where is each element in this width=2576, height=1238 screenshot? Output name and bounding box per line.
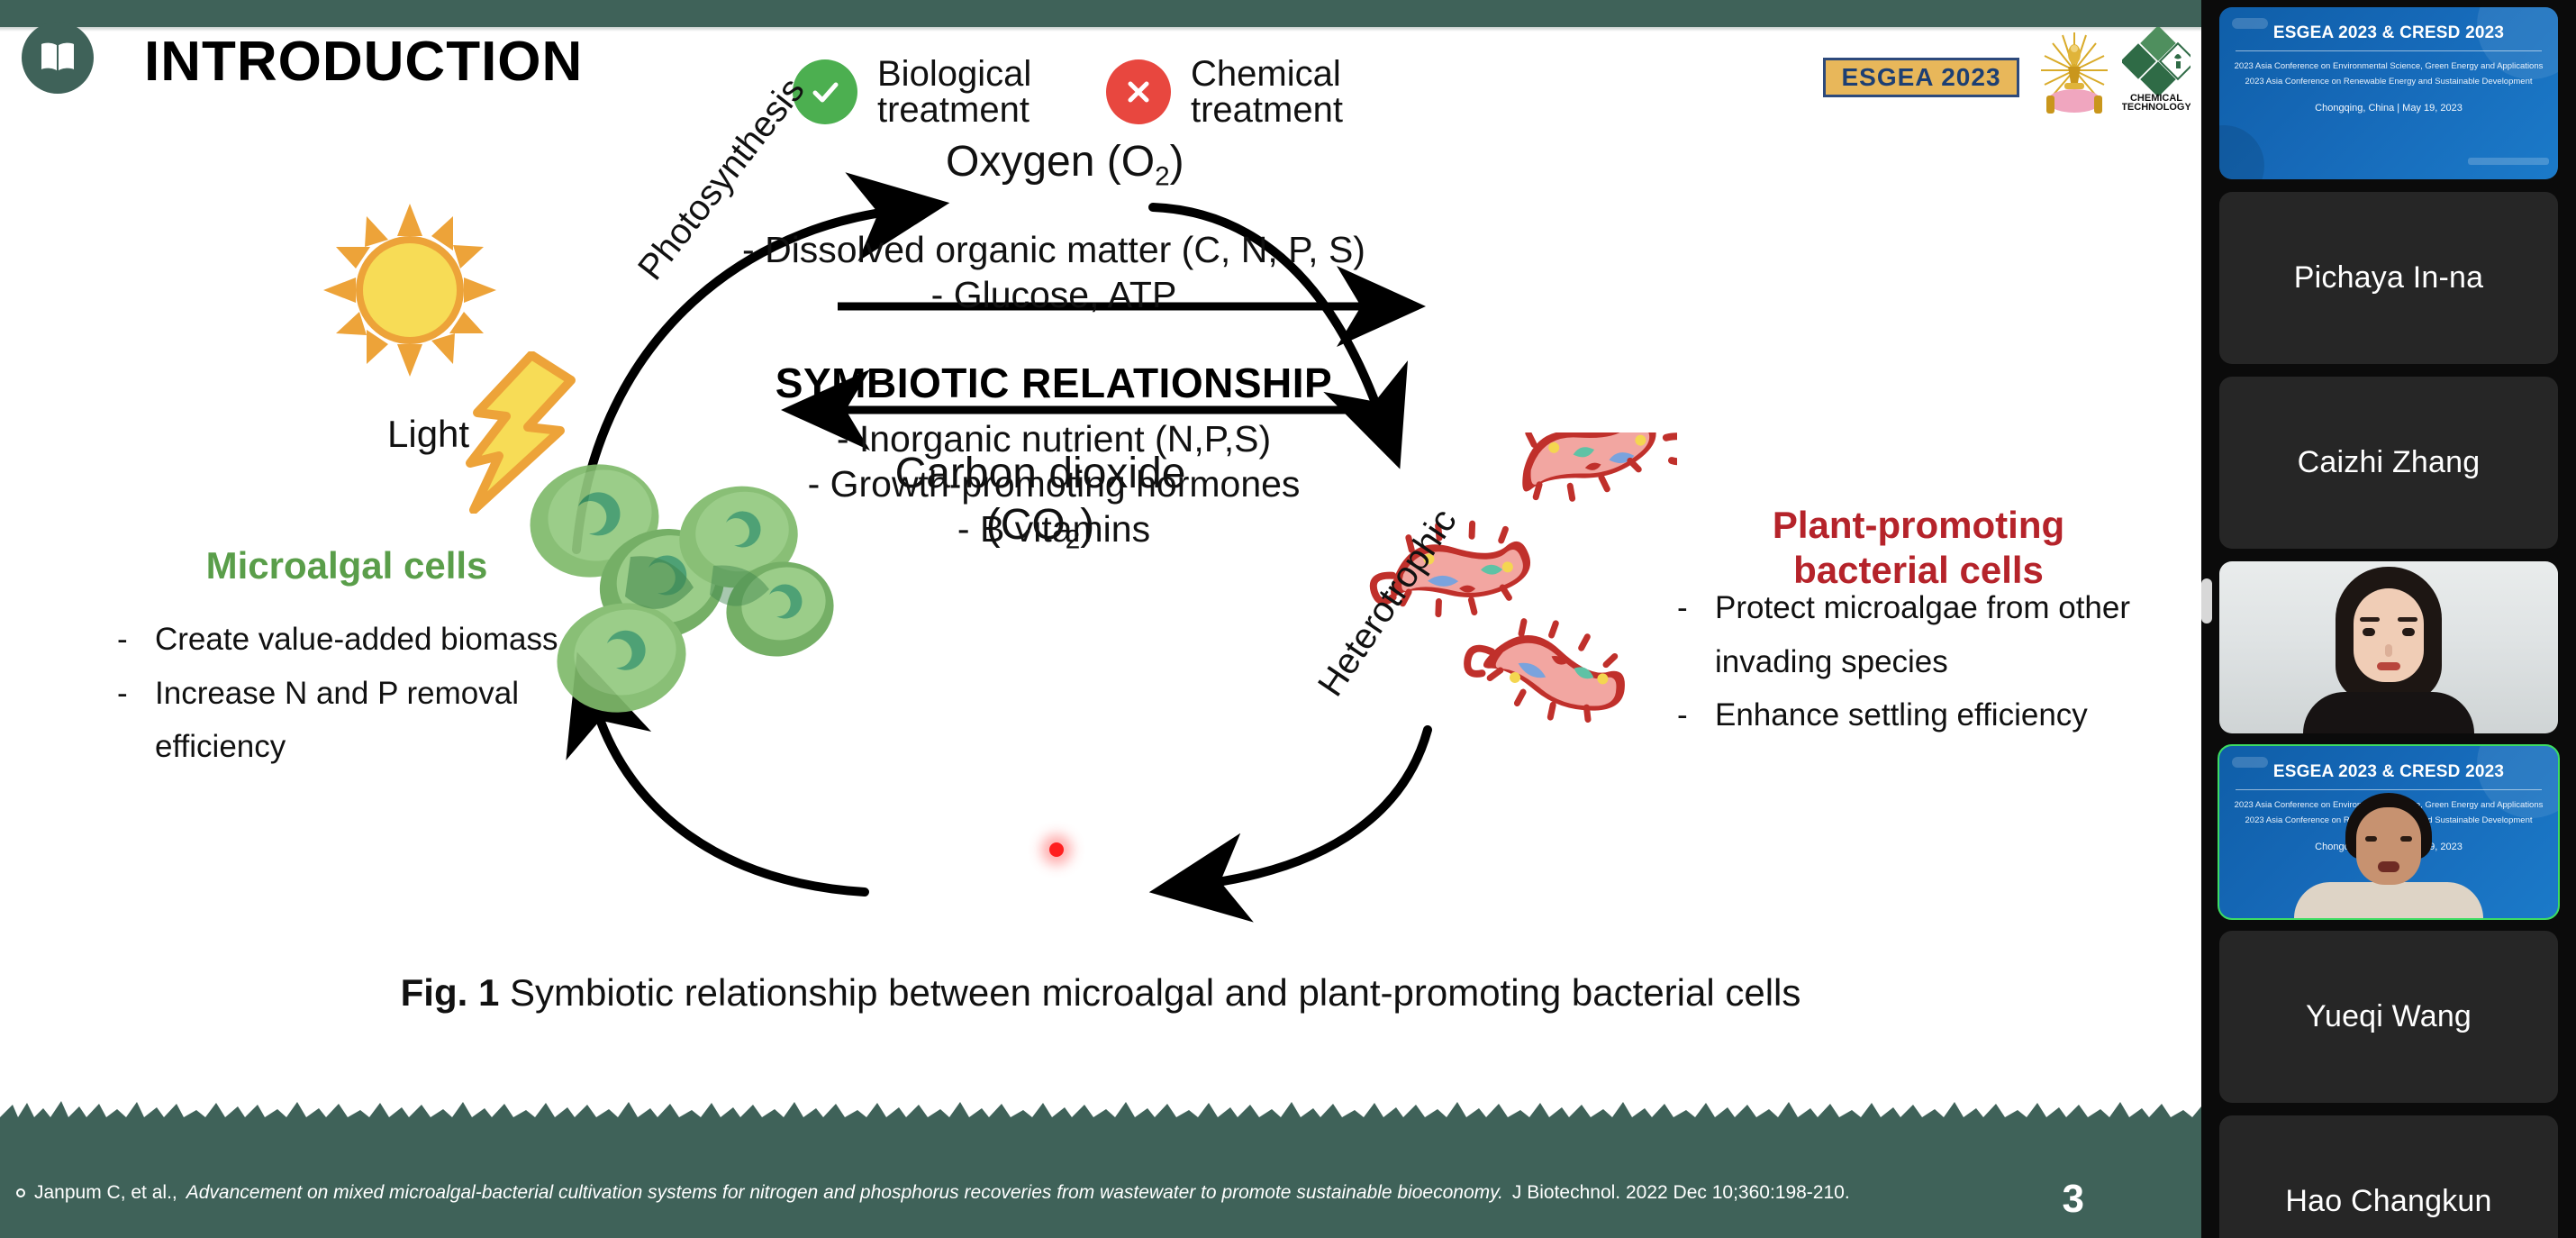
slide-top-band [0,0,2201,27]
avatar-nose [2385,644,2392,657]
oxygen-label: Oxygen (O2) [946,137,1184,193]
list-item: - Increase N and P removal efficiency [117,667,585,774]
slide-footer-band: Janpum C, et al., Advancement on mixed m… [0,1126,2201,1238]
bacterial-cells-bullets: - Protect microalgae from other invading… [1677,581,2181,742]
exchange-top-line1: - Dissolved organic matter (C, N, P, S) [739,227,1369,272]
bullet-text: Create value-added biomass [155,613,558,667]
bact-title-line1: Plant-promoting [1711,503,2126,548]
meeting-window: INTRODUCTION Biological treatment [0,0,2576,1238]
bullet-dash: - [1677,688,1692,742]
shared-screen-stage[interactable]: INTRODUCTION Biological treatment [0,0,2201,1238]
chemical-technology-logo-icon: CHEMICAL TECHNOLOGY [2122,27,2191,132]
microalgal-cells-bullets: - Create value-added biomass - Increase … [117,613,585,774]
conference-slide-thumbnail: ESGEA 2023 & CRESD 2023 2023 Asia Confer… [2219,7,2558,179]
avatar-eye [2363,628,2375,636]
participant-tile-pichaya-in-na[interactable]: Pichaya In-na [2219,192,2558,364]
slide-number: 3 [2063,1177,2084,1222]
chulalongkorn-emblem-icon [2036,27,2113,126]
figure-caption: Fig. 1 Symbiotic relationship between mi… [0,971,2201,1015]
light-label: Light [387,413,469,456]
bullet-marker-icon [16,1188,25,1197]
esgea-2023-badge: ESGEA 2023 [1823,58,2019,97]
avatar-face [2356,807,2421,885]
participant-name: Hao Changkun [2285,1184,2491,1219]
avatar-body [2303,692,2474,733]
participant-video-feed [2219,561,2558,733]
footnote-title: Advancement on mixed microalgal-bacteria… [186,1182,1503,1204]
bullet-text: Increase N and P removal efficiency [155,667,585,774]
legend-chemical-label: Chemical treatment [1191,56,1343,128]
open-book-icon [22,22,94,94]
exchange-bottom-line2: - Growth-promoting hormones [712,461,1396,506]
conference-location: Chongqing, China | May 19, 2023 [2219,103,2558,114]
participant-tile-active-speaker[interactable]: ESGEA 2023 & CRESD 2023 2023 Asia Confer… [2219,746,2558,918]
participant-tile-yueqi-wang[interactable]: Yueqi Wang [2219,931,2558,1103]
page-title: INTRODUCTION [144,30,583,94]
list-item: - Create value-added biomass [117,613,585,667]
conference-rule [2236,789,2542,790]
exchange-bottom-labels: - Inorganic nutrient (N,P,S) - Growth-pr… [712,416,1396,551]
oxygen-text-end: ) [1170,138,1184,186]
conference-subtitle-2: 2023 Asia Conference on Renewable Energy… [2219,75,2558,90]
conference-subtitles: 2023 Asia Conference on Environmental Sc… [2219,59,2558,89]
plant-promoting-bacterial-cells-title: Plant-promoting bacterial cells [1711,503,2126,592]
avatar-body [2294,882,2483,918]
figure-caption-text: Symbiotic relationship between microalga… [499,971,1800,1014]
reference-footnote: Janpum C, et al., Advancement on mixed m… [16,1182,1850,1204]
bullet-text: Protect microalgae from other invading s… [1715,581,2181,688]
laser-pointer-dot [1049,842,1064,857]
conference-subtitle-1: 2023 Asia Conference on Environmental Sc… [2219,59,2558,75]
oxygen-subscript: 2 [1155,162,1170,192]
avatar-eye [2402,628,2415,636]
participant-tile-hao-changkun[interactable]: Hao Changkun [2219,1115,2558,1238]
footnote-author: Janpum C, et al., [34,1182,177,1204]
symbiosis-diagram: Light [0,126,2201,937]
avatar-eye [2400,836,2412,842]
conference-title: ESGEA 2023 & CRESD 2023 [2219,762,2558,782]
avatar-brow [2360,617,2380,622]
legend-biological-label: Biological treatment [877,56,1031,128]
legend-chem-line2: treatment [1191,92,1343,128]
microalgal-cells-title: Microalgal cells [158,544,536,587]
participant-name: Pichaya In-na [2294,260,2484,296]
bullet-dash: - [1677,581,1692,688]
participant-tile-caizhi-zhang[interactable]: Caizhi Zhang [2219,377,2558,549]
legend-bio-line1: Biological [877,56,1031,92]
panel-resize-handle[interactable] [2201,578,2212,624]
footnote-source: J Biotechnol. 2022 Dec 10;360:198-210. [1512,1182,1850,1204]
participant-name: Caizhi Zhang [2298,445,2481,480]
decorative-strip [2468,158,2549,165]
x-circle-icon [1106,59,1171,124]
exchange-bottom-line1: - Inorganic nutrient (N,P,S) [712,416,1396,461]
avatar-mouth [2377,662,2400,670]
participant-name: Yueqi Wang [2306,999,2472,1034]
exchange-bottom-line3: - B vitamins [712,506,1396,551]
list-item: - Protect microalgae from other invading… [1677,581,2181,688]
oxygen-text: Oxygen (O [946,138,1155,186]
presentation-slide: INTRODUCTION Biological treatment [0,0,2201,1238]
exchange-top-labels: - Dissolved organic matter (C, N, P, S) … [739,227,1369,317]
exchange-top-line2: - Glucose, ATP [739,272,1369,317]
grass-decoration-icon [0,1101,2201,1128]
svg-text:TECHNOLOGY: TECHNOLOGY [2122,102,2191,110]
participant-tile-video[interactable] [2219,561,2558,733]
figure-caption-label: Fig. 1 [401,971,500,1014]
bullet-text: Enhance settling efficiency [1715,688,2088,742]
legend-chemical-treatment: Chemical treatment [1106,56,1343,128]
legend-biological-treatment: Biological treatment [793,56,1031,128]
list-item: - Enhance settling efficiency [1677,688,2181,742]
conference-title: ESGEA 2023 & CRESD 2023 [2219,23,2558,43]
bullet-dash: - [117,613,132,667]
decorative-blob [2219,125,2264,179]
symbiotic-relationship-label: SYMBIOTIC RELATIONSHIP [748,359,1360,407]
avatar-mouth [2378,861,2399,872]
bullet-dash: - [117,667,132,774]
participant-tile[interactable]: ESGEA 2023 & CRESD 2023 2023 Asia Confer… [2219,7,2558,179]
conference-rule [2236,50,2542,51]
legend-bio-line2: treatment [877,92,1031,128]
legend-chem-line1: Chemical [1191,56,1343,92]
avatar-eye [2365,836,2377,842]
participant-sidebar[interactable]: ESGEA 2023 & CRESD 2023 2023 Asia Confer… [2201,0,2576,1238]
avatar-brow [2398,617,2417,622]
active-speaker-video-feed: ESGEA 2023 & CRESD 2023 2023 Asia Confer… [2219,746,2558,918]
